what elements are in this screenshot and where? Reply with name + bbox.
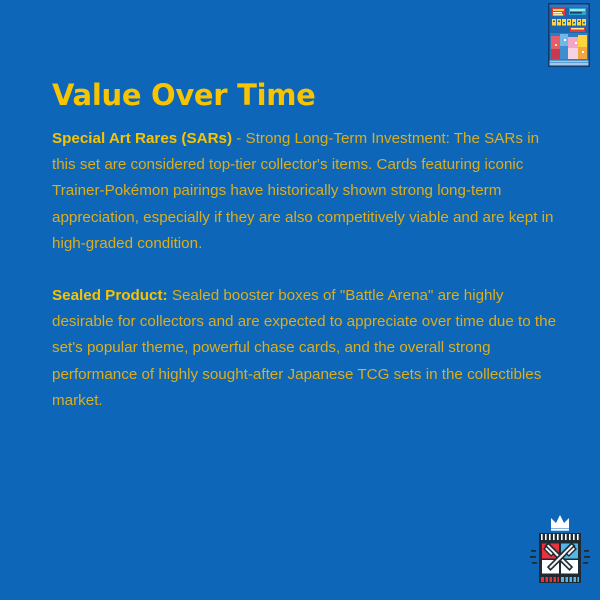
paragraph-sars-lead-in: Special Art Rares (SARs) — [52, 130, 232, 147]
spark-lines-right — [583, 550, 590, 564]
crown-icon — [551, 515, 569, 531]
pokemon-booster-pack-image — [548, 3, 590, 67]
crown-crossed-swords-logo — [529, 506, 591, 586]
body-copy: Special Art Rares (SARs) - Strong Long-T… — [52, 126, 556, 414]
page-title: Value Over Time — [52, 80, 316, 112]
paragraph-sealed-product-lead-in: Sealed Product: — [52, 287, 168, 304]
slide-canvas: Value Over Time Special Art Rares (SARs)… — [0, 0, 600, 600]
paragraph-sars: Special Art Rares (SARs) - Strong Long-T… — [52, 126, 556, 257]
spark-lines-left — [530, 550, 537, 564]
paragraph-sealed-product-text: Sealed booster boxes of "Battle Arena" a… — [52, 287, 556, 409]
paragraph-sealed-product: Sealed Product: Sealed booster boxes of … — [52, 283, 556, 414]
paragraph-sars-text: - Strong Long-Term Investment: The SARs … — [52, 130, 553, 252]
